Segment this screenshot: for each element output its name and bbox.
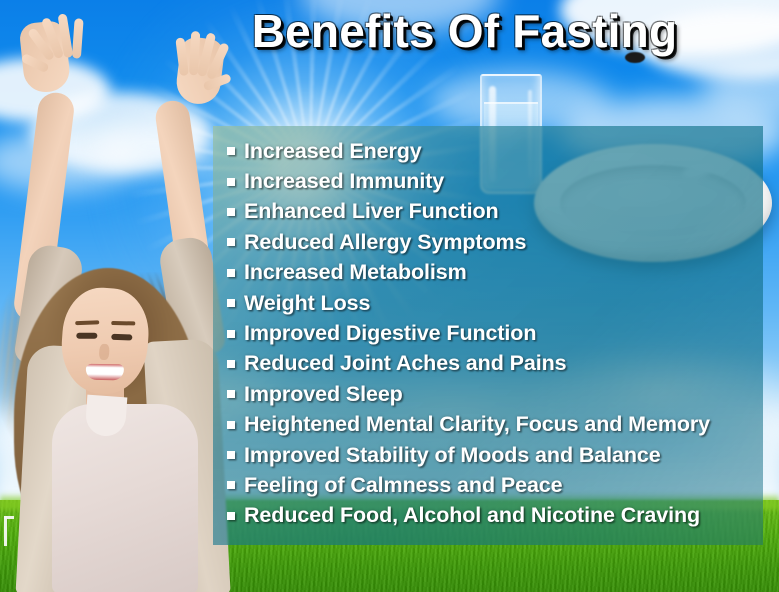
list-item-label: Improved Sleep xyxy=(244,382,403,407)
square-bullet-icon xyxy=(227,481,235,489)
edge-artifact-vertical xyxy=(4,516,7,546)
list-item: Reduced Food, Alcohol and Nicotine Cravi… xyxy=(227,501,763,531)
square-bullet-icon xyxy=(227,269,235,277)
benefits-panel: Increased EnergyIncreased ImmunityEnhanc… xyxy=(213,126,763,545)
list-item-label: Feeling of Calmness and Peace xyxy=(244,473,563,498)
square-bullet-icon xyxy=(227,390,235,398)
list-item-label: Increased Energy xyxy=(244,139,422,164)
list-item-label: Reduced Food, Alcohol and Nicotine Cravi… xyxy=(244,503,700,528)
list-item: Increased Metabolism xyxy=(227,258,763,288)
poster-canvas: Benefits Of Fasting Increased EnergyIncr… xyxy=(0,0,779,592)
edge-artifact-horizontal xyxy=(4,516,14,519)
list-item-label: Improved Stability of Moods and Balance xyxy=(244,443,661,468)
square-bullet-icon xyxy=(227,421,235,429)
square-bullet-icon xyxy=(227,299,235,307)
list-item: Increased Energy xyxy=(227,136,763,166)
page-title: Benefits Of Fasting xyxy=(0,4,779,58)
square-bullet-icon xyxy=(227,208,235,216)
list-item: Increased Immunity xyxy=(227,166,763,196)
list-item-label: Reduced Joint Aches and Pains xyxy=(244,351,566,376)
square-bullet-icon xyxy=(227,360,235,368)
list-item: Reduced Allergy Symptoms xyxy=(227,227,763,257)
list-item-label: Heightened Mental Clarity, Focus and Mem… xyxy=(244,412,710,437)
square-bullet-icon xyxy=(227,147,235,155)
list-item-label: Enhanced Liver Function xyxy=(244,199,499,224)
square-bullet-icon xyxy=(227,238,235,246)
list-item-label: Weight Loss xyxy=(244,291,370,316)
square-bullet-icon xyxy=(227,330,235,338)
list-item-label: Improved Digestive Function xyxy=(244,321,536,346)
list-item: Improved Stability of Moods and Balance xyxy=(227,440,763,470)
list-item: Heightened Mental Clarity, Focus and Mem… xyxy=(227,410,763,440)
list-item: Weight Loss xyxy=(227,288,763,318)
list-item: Enhanced Liver Function xyxy=(227,197,763,227)
list-item-label: Increased Immunity xyxy=(244,169,444,194)
square-bullet-icon xyxy=(227,178,235,186)
list-item: Improved Sleep xyxy=(227,379,763,409)
list-item: Improved Digestive Function xyxy=(227,318,763,348)
square-bullet-icon xyxy=(227,512,235,520)
square-bullet-icon xyxy=(227,451,235,459)
benefits-list: Increased EnergyIncreased ImmunityEnhanc… xyxy=(227,136,763,531)
list-item-label: Increased Metabolism xyxy=(244,260,467,285)
list-item: Feeling of Calmness and Peace xyxy=(227,470,763,500)
list-item: Reduced Joint Aches and Pains xyxy=(227,349,763,379)
list-item-label: Reduced Allergy Symptoms xyxy=(244,230,526,255)
